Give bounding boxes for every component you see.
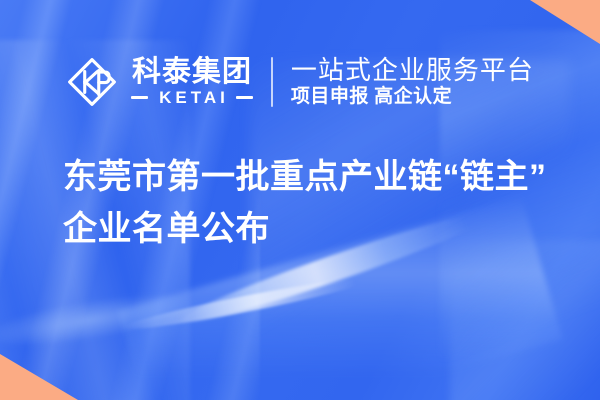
ketai-diamond-monogram-icon bbox=[66, 56, 118, 108]
tagline-secondary: 项目申报 高企认定 bbox=[291, 87, 534, 108]
headline-block: 东莞市第一批重点产业链“链主” 企业名单公布 bbox=[63, 152, 563, 255]
promo-banner: 科泰集团 KETAI 一站式企业服务平台 项目申报 高企认定 东莞市第一批重点产… bbox=[0, 0, 600, 400]
brand-dash-right-icon bbox=[236, 96, 253, 99]
tagline-block: 一站式企业服务平台 项目申报 高企认定 bbox=[291, 56, 534, 108]
corner-accent-bottom-left bbox=[0, 354, 78, 400]
headline-line-2: 企业名单公布 bbox=[63, 204, 563, 256]
corner-accent-top-right bbox=[530, 0, 600, 44]
brand-name-english-row: KETAI bbox=[131, 89, 253, 106]
brand-name-chinese: 科泰集团 bbox=[132, 58, 252, 87]
headline-line-1: 东莞市第一批重点产业链“链主” bbox=[63, 152, 563, 204]
tagline-primary: 一站式企业服务平台 bbox=[291, 56, 534, 84]
brand-name-english: KETAI bbox=[155, 89, 229, 106]
brand-dash-left-icon bbox=[131, 96, 148, 99]
header-divider bbox=[271, 57, 273, 107]
brand-wordmark: 科泰集团 KETAI bbox=[131, 58, 253, 106]
brand-logo: 科泰集团 KETAI bbox=[66, 56, 253, 108]
banner-header: 科泰集团 KETAI 一站式企业服务平台 项目申报 高企认定 bbox=[0, 44, 600, 120]
